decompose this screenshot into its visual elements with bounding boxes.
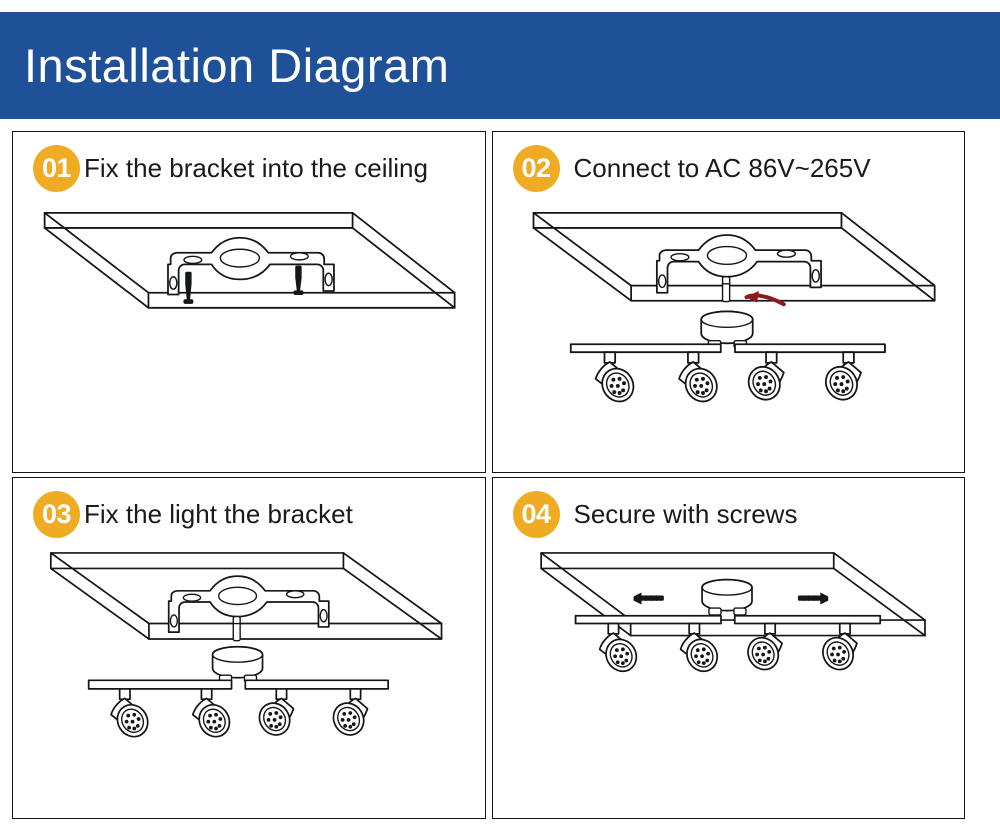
step-header-04: 04 Secure with screws [493, 478, 965, 540]
step-label-04: Secure with screws [574, 501, 798, 527]
step-header-03: 03 Fix the light the bracket [13, 478, 485, 540]
steps-grid: 01 Fix the bracket into the ceiling [12, 131, 965, 819]
ceiling-mount-puck-icon [702, 580, 752, 615]
spotlight-head-3 [742, 352, 785, 405]
step-panel-02: 02 Connect to AC 86V~265V [492, 131, 966, 473]
wire-connector-icon [233, 617, 240, 641]
spotlight-head-2 [193, 689, 236, 742]
spotlight-head-3 [253, 689, 295, 741]
step-header-02: 02 Connect to AC 86V~265V [493, 132, 965, 194]
spotlight-head-1 [599, 624, 642, 677]
track-bar-icon [570, 344, 884, 352]
spotlight-head-2 [679, 352, 723, 407]
screw-icon-left [184, 272, 193, 303]
step-illustration-03 [13, 534, 485, 818]
spotlight-head-1 [111, 689, 154, 742]
spotlight-head-4 [328, 689, 370, 741]
step-badge-01: 01 [33, 145, 80, 192]
step-panel-01: 01 Fix the bracket into the ceiling [12, 131, 486, 473]
mounting-bracket-icon [168, 238, 334, 295]
track-bar-icon [89, 680, 388, 689]
ceiling-mount-puck-icon [213, 647, 263, 682]
step-label-03: Fix the light the bracket [84, 501, 353, 527]
step-illustration-01 [13, 188, 485, 472]
step-badge-02: 02 [513, 145, 560, 192]
ceiling-mount-puck-icon [701, 311, 752, 347]
spotlight-head-2 [680, 624, 723, 677]
step-label-01: Fix the bracket into the ceiling [84, 155, 428, 181]
screw-icon-right [798, 593, 827, 603]
spotlight-head-4 [816, 624, 858, 676]
screw-icon-right [294, 266, 303, 294]
step-header-01: 01 Fix the bracket into the ceiling [13, 132, 485, 194]
step-badge-03: 03 [33, 491, 80, 538]
step-label-02: Connect to AC 86V~265V [574, 155, 871, 181]
connect-arrow-icon [744, 291, 783, 304]
wire-connector-icon [722, 277, 729, 302]
screw-icon-left [634, 593, 663, 603]
step-illustration-02 [493, 188, 965, 472]
step-illustration-04 [493, 534, 965, 818]
step-badge-04: 04 [513, 491, 560, 538]
spotlight-head-1 [595, 352, 639, 407]
spotlight-head-4 [819, 352, 862, 405]
header-banner: Installation Diagram [0, 12, 1000, 119]
step-panel-03: 03 Fix the light the bracket [12, 477, 486, 819]
spotlight-head-3 [742, 624, 784, 676]
mounting-bracket-icon [656, 235, 820, 293]
page-title: Installation Diagram [0, 42, 449, 89]
step-panel-04: 04 Secure with screws [492, 477, 966, 819]
